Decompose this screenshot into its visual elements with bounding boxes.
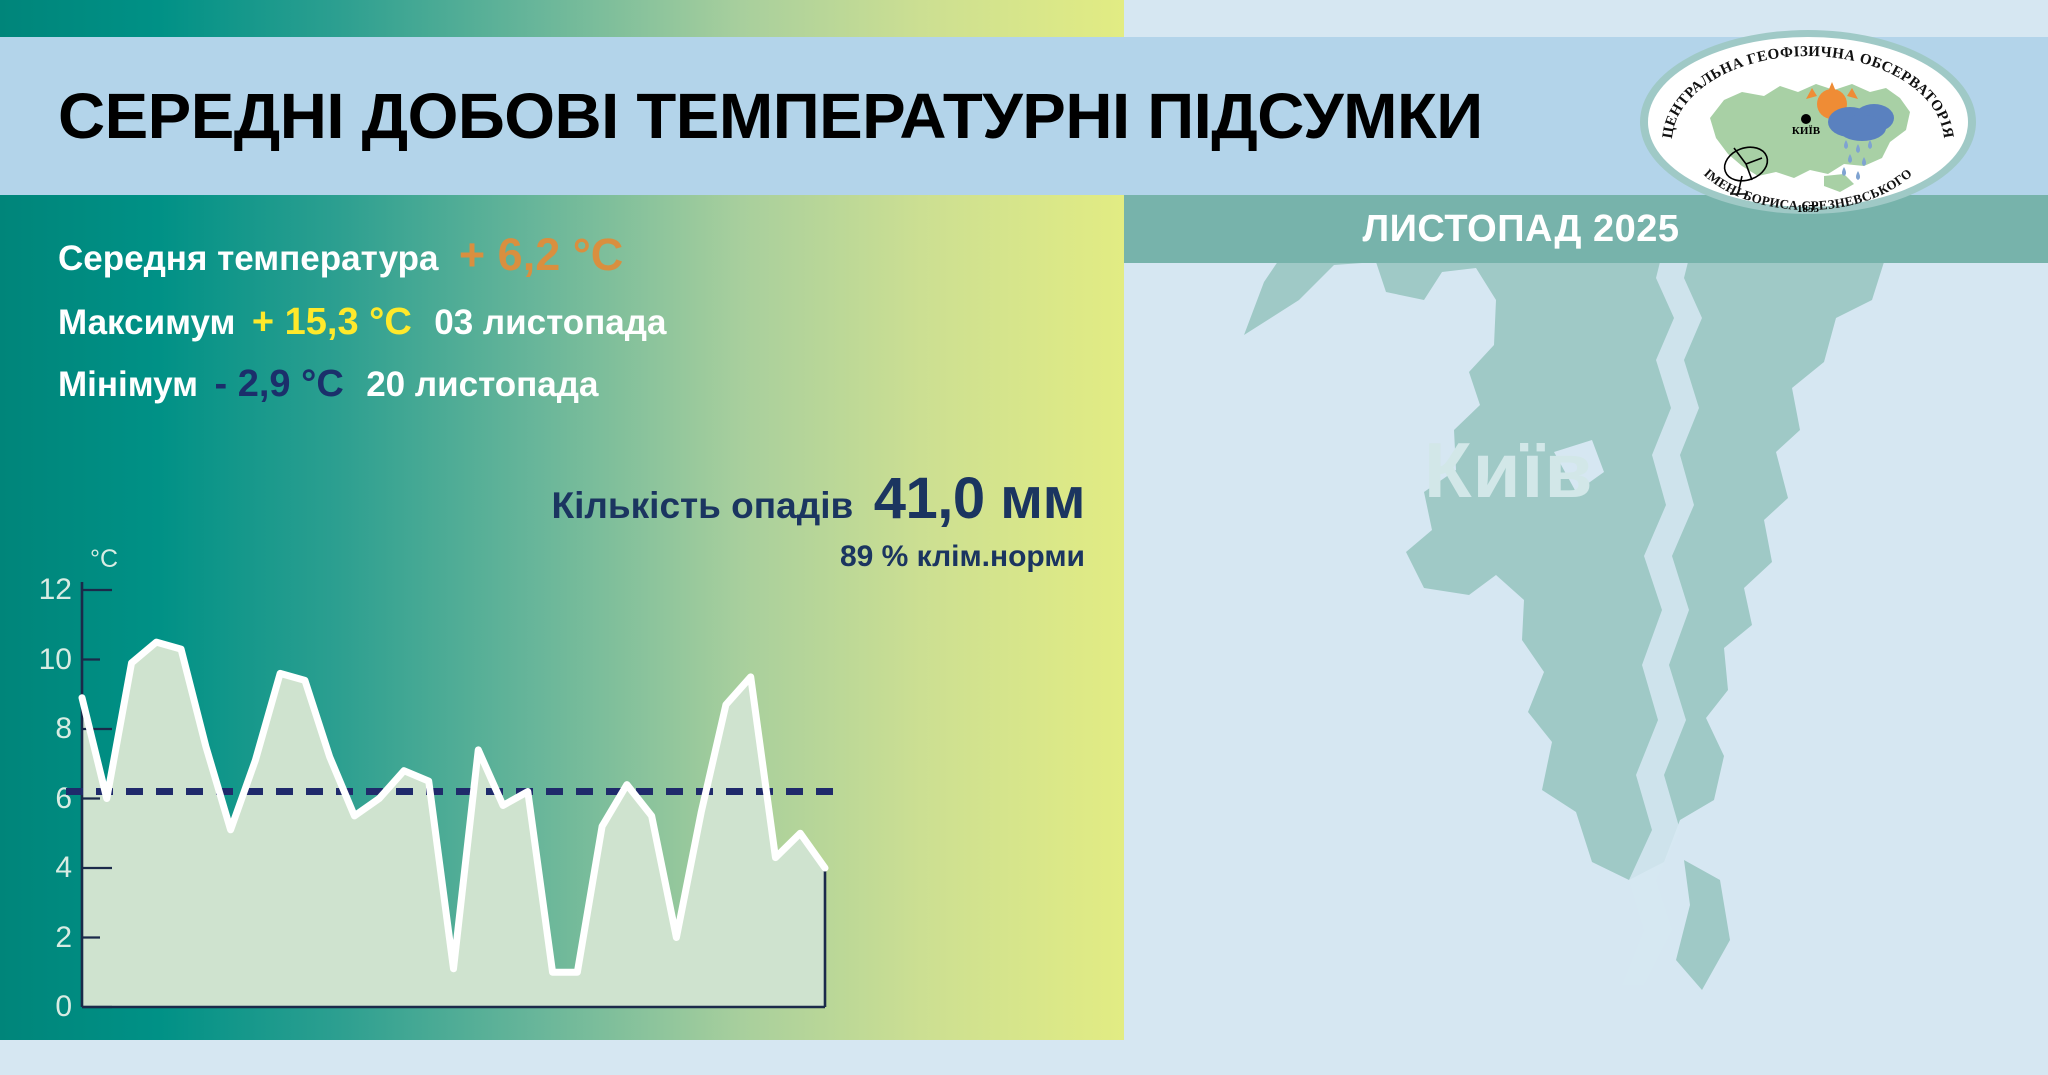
stat-row-minimum: Мінімум - 2,9 °C 20 листопада <box>58 365 1058 403</box>
maximum-temp-label: Максимум <box>58 303 235 342</box>
precipitation-label: Кількість опадів <box>552 485 854 526</box>
map-city-label: Київ <box>1424 425 1593 516</box>
precipitation-value: 41,0 мм <box>874 466 1085 531</box>
average-temp-value: + 6,2 °C <box>459 229 623 280</box>
stats-block: Середня температура + 6,2 °C Максимум + … <box>58 232 1058 425</box>
month-label: ЛИСТОПАД 2025 <box>1362 208 1679 251</box>
maximum-temp-value: + 15,3 °C <box>252 301 412 343</box>
kyiv-marker-dot <box>1801 114 1811 124</box>
minimum-temp-date: 20 листопада <box>366 365 598 404</box>
chart-canvas <box>30 545 1100 1045</box>
left-panel-footer-strip <box>0 1040 1124 1075</box>
page-title: СЕРЕДНІ ДОБОВІ ТЕМПЕРАТУРНІ ПІДСУМКИ <box>58 79 1483 153</box>
maximum-temp-date: 03 листопада <box>434 303 666 342</box>
logo-year: 1855 <box>1797 203 1820 215</box>
logo-svg: КИЇВ ЦЕНТРАЛЬНА ГЕОФІЗИЧНА ОБСЕРВАТОРІЯ … <box>1638 26 1978 218</box>
average-temp-label: Середня температура <box>58 239 438 278</box>
minimum-temp-value: - 2,9 °C <box>215 363 344 405</box>
minimum-temp-label: Мінімум <box>58 365 198 404</box>
stat-row-average: Середня температура + 6,2 °C <box>58 232 1058 277</box>
infographic-root: Київ СЕРЕДНІ ДОБОВІ ТЕМПЕРАТУРНІ ПІДСУМК… <box>0 0 2048 1075</box>
logo-kyiv-label: КИЇВ <box>1792 124 1821 137</box>
stat-row-maximum: Максимум + 15,3 °C 03 листопада <box>58 303 1058 341</box>
precipitation-amount-row: Кількість опадів 41,0 мм <box>0 470 1085 528</box>
observatory-logo: КИЇВ ЦЕНТРАЛЬНА ГЕОФІЗИЧНА ОБСЕРВАТОРІЯ … <box>1638 26 1978 218</box>
temperature-chart: °C 024681012 <box>30 545 1100 1045</box>
